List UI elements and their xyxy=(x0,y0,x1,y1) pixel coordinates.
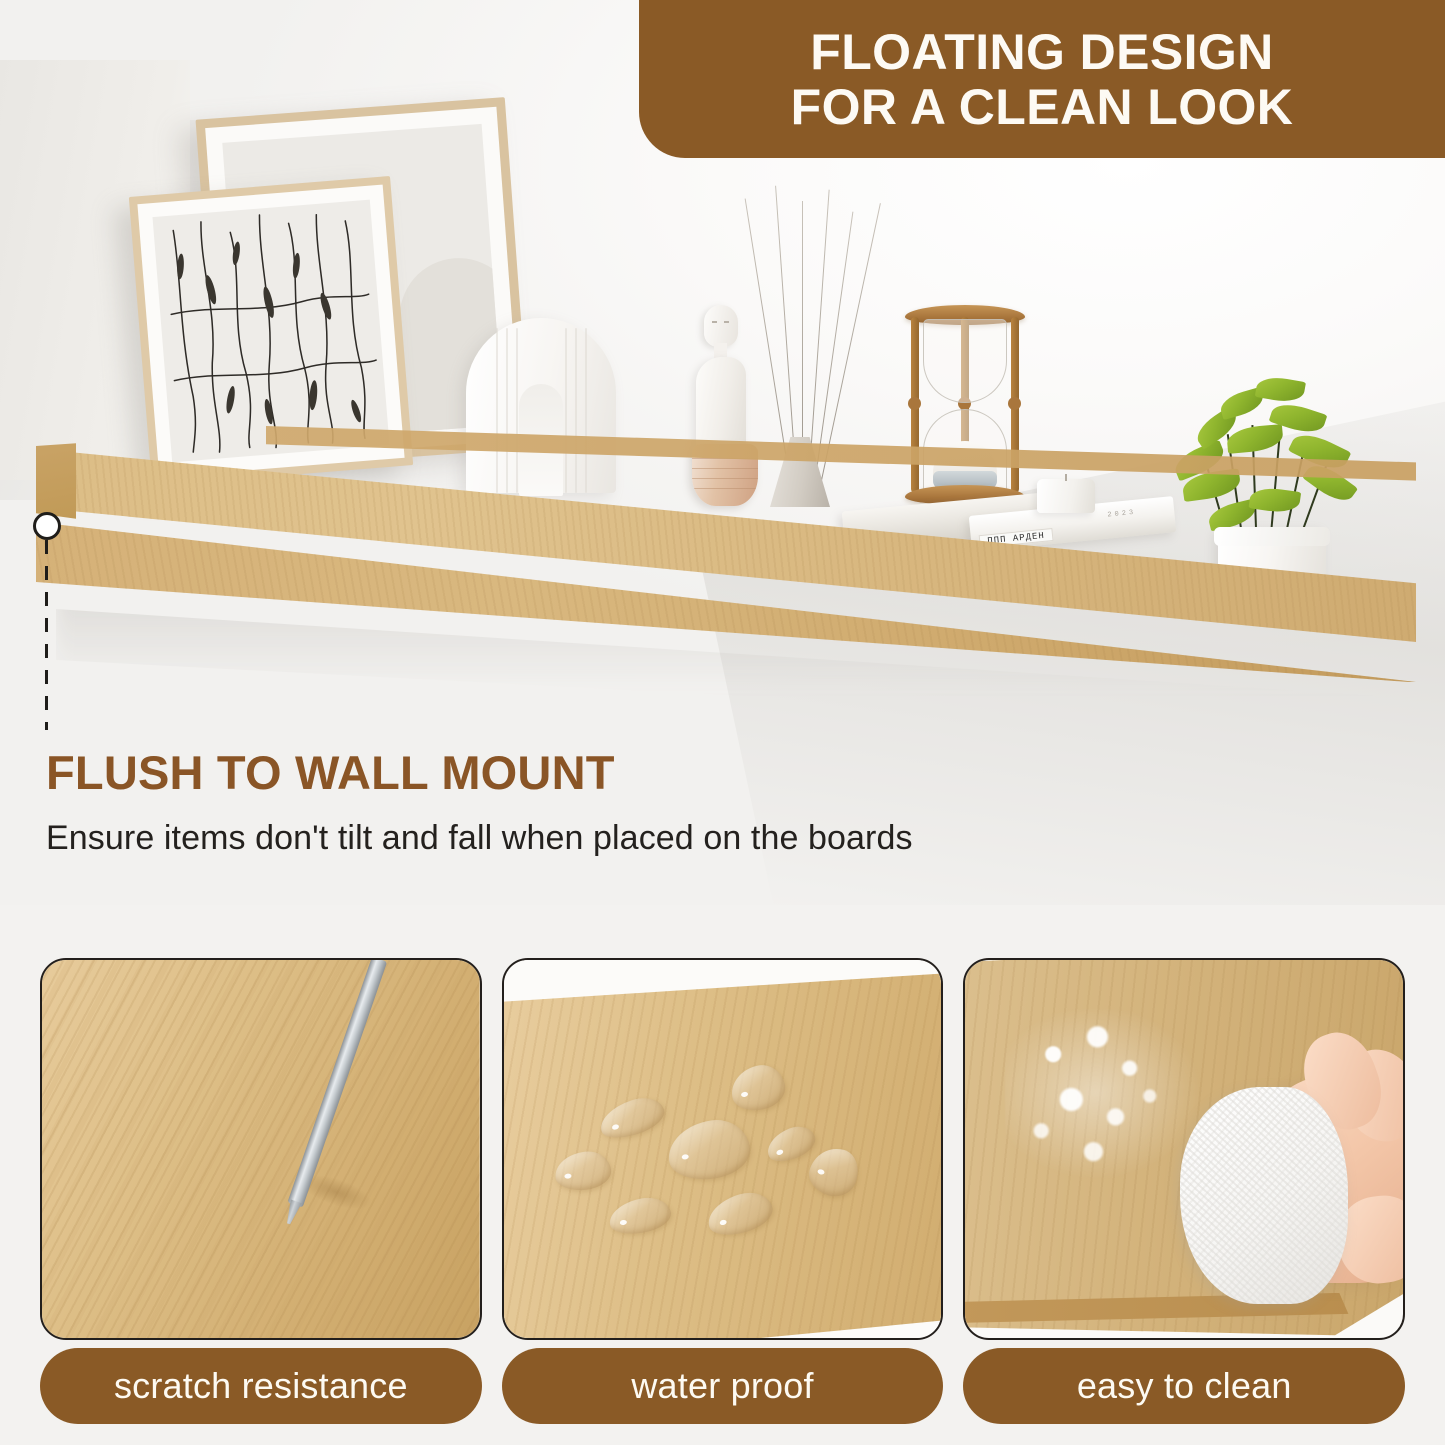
water-droplet xyxy=(762,1120,820,1167)
pill-water-proof[interactable]: water proof xyxy=(502,1348,944,1424)
plant-leaf xyxy=(1255,374,1306,405)
panel-scratch-resistance xyxy=(40,958,482,1340)
page-title: FLUSH TO WALL MOUNT xyxy=(46,748,1376,797)
feature-panels xyxy=(40,958,1405,1340)
cleaning-cloth xyxy=(1180,1087,1348,1305)
wood-texture xyxy=(42,960,480,1338)
panel-easy-to-clean xyxy=(963,958,1405,1340)
floating-wood-shelf xyxy=(36,432,1416,712)
pill-scratch-resistance[interactable]: scratch resistance xyxy=(40,1348,482,1424)
shelf-back-face xyxy=(266,426,1416,496)
flush-mount-dashed-line xyxy=(45,540,48,730)
banner-line-1: FLOATING DESIGN xyxy=(810,25,1273,79)
figurine-eye xyxy=(712,321,717,323)
water-droplet xyxy=(664,1115,753,1184)
banner-line-2: FOR A CLEAN LOOK xyxy=(791,80,1294,134)
feature-pill-row: scratch resistance water proof easy to c… xyxy=(40,1348,1405,1424)
water-droplet xyxy=(727,1061,789,1115)
floating-design-banner: FLOATING DESIGN FOR A CLEAN LOOK xyxy=(639,0,1445,158)
hourglass-knob xyxy=(908,397,921,410)
hourglass-upper-bulb xyxy=(923,319,1007,403)
water-droplet xyxy=(804,1143,863,1202)
frame-front-artwork xyxy=(152,200,389,463)
flush-mount-indicator-dot xyxy=(33,512,61,540)
water-droplet xyxy=(553,1149,613,1193)
page-subtitle: Ensure items don't tilt and fall when pl… xyxy=(46,819,1376,858)
hand-icon xyxy=(1175,1043,1405,1315)
wood-texture xyxy=(502,971,944,1340)
pill-easy-to-clean[interactable]: easy to clean xyxy=(963,1348,1405,1424)
water-droplet xyxy=(703,1187,777,1242)
water-droplet xyxy=(595,1092,668,1145)
panel-water-proof xyxy=(502,958,944,1340)
water-droplet xyxy=(606,1194,673,1238)
heading-block: FLUSH TO WALL MOUNT Ensure items don't t… xyxy=(46,748,1376,858)
figurine-eye xyxy=(724,321,729,323)
figurine-head xyxy=(704,305,738,347)
abstract-line-art-icon xyxy=(152,200,389,463)
hourglass-knob xyxy=(1008,397,1021,410)
